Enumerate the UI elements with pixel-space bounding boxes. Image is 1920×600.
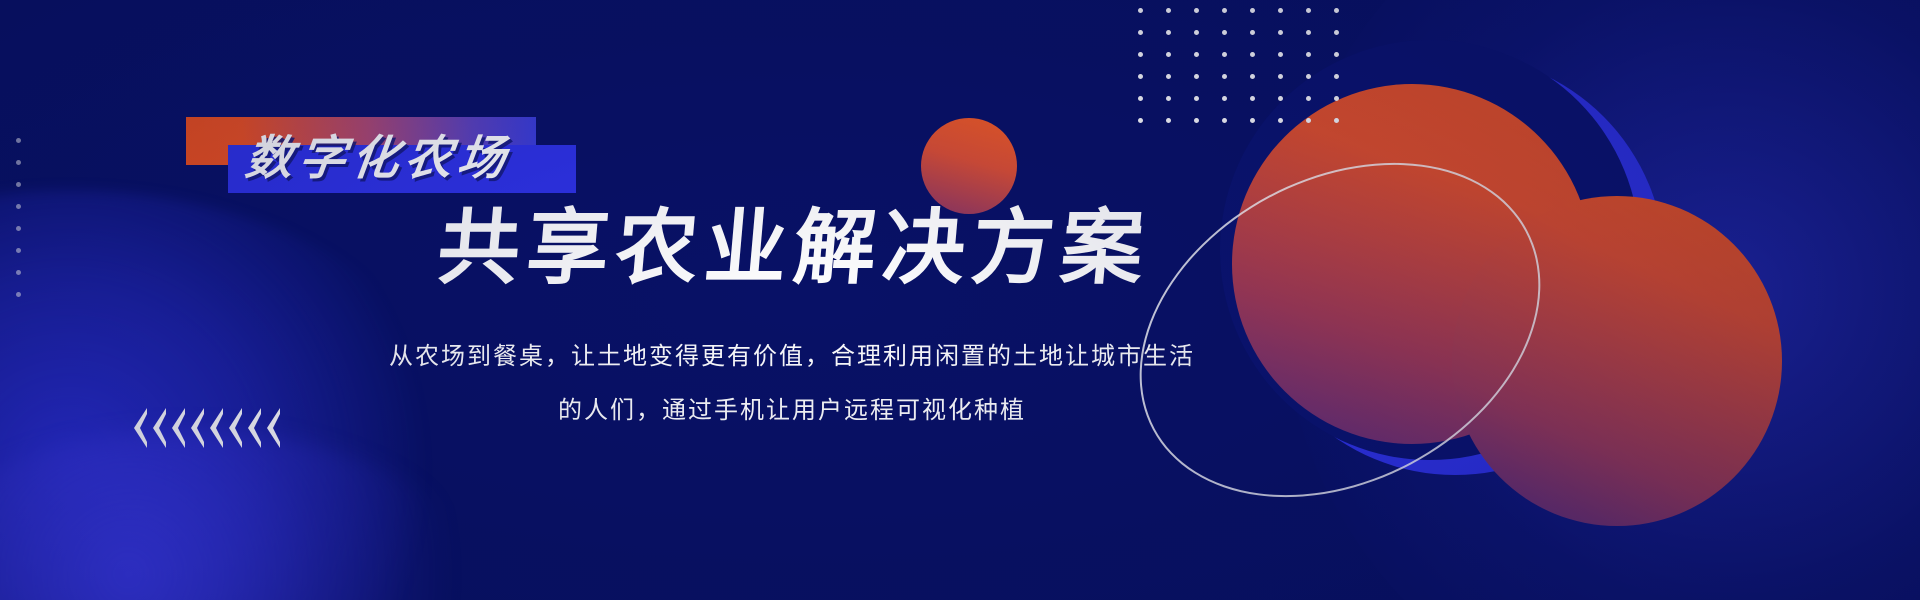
- grid-dot: [1278, 118, 1283, 123]
- dot-grid-decoration: [1138, 8, 1362, 140]
- grid-dot: [1194, 52, 1199, 57]
- grid-dot: [1138, 118, 1143, 123]
- grid-dot: [1138, 52, 1143, 57]
- grid-dot: [1250, 8, 1255, 13]
- grid-dot: [1194, 8, 1199, 13]
- grid-dot: [1250, 30, 1255, 35]
- grid-dot: [1278, 74, 1283, 79]
- left-dot-column-decoration: [16, 138, 21, 297]
- grid-dot: [1222, 118, 1227, 123]
- grid-dot: [1138, 74, 1143, 79]
- column-dot: [16, 226, 21, 231]
- grid-dot: [1138, 30, 1143, 35]
- grid-dot: [1334, 30, 1339, 35]
- chevron-left-icon: [172, 408, 186, 448]
- column-dot: [16, 248, 21, 253]
- grid-dot: [1306, 8, 1311, 13]
- chevron-left-icon: [153, 408, 167, 448]
- grid-dot: [1334, 52, 1339, 57]
- grid-dot: [1250, 118, 1255, 123]
- chevron-left-icon: [191, 408, 205, 448]
- grid-dot: [1306, 30, 1311, 35]
- grid-dot: [1334, 118, 1339, 123]
- grid-dot: [1138, 8, 1143, 13]
- grid-dot: [1334, 74, 1339, 79]
- grid-dot: [1306, 74, 1311, 79]
- grid-dot: [1278, 52, 1283, 57]
- badge-label: 数字化农场: [243, 134, 514, 181]
- grid-dot: [1278, 96, 1283, 101]
- chevron-left-icon: [210, 408, 224, 448]
- grid-dot: [1306, 96, 1311, 101]
- grid-dot: [1222, 52, 1227, 57]
- page-title: 共享农业解决方案: [434, 205, 1154, 294]
- column-dot: [16, 270, 21, 275]
- column-dot: [16, 204, 21, 209]
- grid-dot: [1222, 8, 1227, 13]
- chevron-left-icon: [248, 408, 262, 448]
- badge: 数字化农场: [186, 117, 576, 193]
- column-dot: [16, 138, 21, 143]
- column-dot: [16, 182, 21, 187]
- grid-dot: [1250, 52, 1255, 57]
- column-dot: [16, 292, 21, 297]
- subtitle-line-1: 从农场到餐桌，让土地变得更有价值，合理利用闲置的土地让城市生活: [352, 330, 1232, 384]
- grid-dot: [1278, 30, 1283, 35]
- grid-dot: [1166, 8, 1171, 13]
- grid-dot: [1194, 30, 1199, 35]
- grid-dot: [1250, 96, 1255, 101]
- grid-dot: [1334, 8, 1339, 13]
- grid-dot: [1306, 118, 1311, 123]
- column-dot: [16, 160, 21, 165]
- grid-dot: [1166, 118, 1171, 123]
- grid-dot: [1194, 74, 1199, 79]
- grid-dot: [1194, 118, 1199, 123]
- subtitle-line-2: 的人们，通过手机让用户远程可视化种植: [352, 384, 1232, 438]
- grid-dot: [1166, 30, 1171, 35]
- grid-dot: [1334, 96, 1339, 101]
- chevron-left-icon: [267, 408, 281, 448]
- grid-dot: [1222, 96, 1227, 101]
- grid-dot: [1222, 30, 1227, 35]
- promo-banner: 数字化农场 共享农业解决方案 从农场到餐桌，让土地变得更有价值，合理利用闲置的土…: [0, 0, 1920, 600]
- grid-dot: [1194, 96, 1199, 101]
- grid-dot: [1166, 52, 1171, 57]
- subtitle: 从农场到餐桌，让土地变得更有价值，合理利用闲置的土地让城市生活 的人们，通过手机…: [352, 330, 1232, 438]
- grid-dot: [1166, 96, 1171, 101]
- grid-dot: [1306, 52, 1311, 57]
- chevron-left-icon: [229, 408, 243, 448]
- grid-dot: [1250, 74, 1255, 79]
- chevron-arrows-decoration: [134, 408, 281, 448]
- grid-dot: [1166, 74, 1171, 79]
- grid-dot: [1138, 96, 1143, 101]
- chevron-left-icon: [134, 408, 148, 448]
- grid-dot: [1278, 8, 1283, 13]
- grid-dot: [1222, 74, 1227, 79]
- orange-circle-small: [921, 118, 1017, 214]
